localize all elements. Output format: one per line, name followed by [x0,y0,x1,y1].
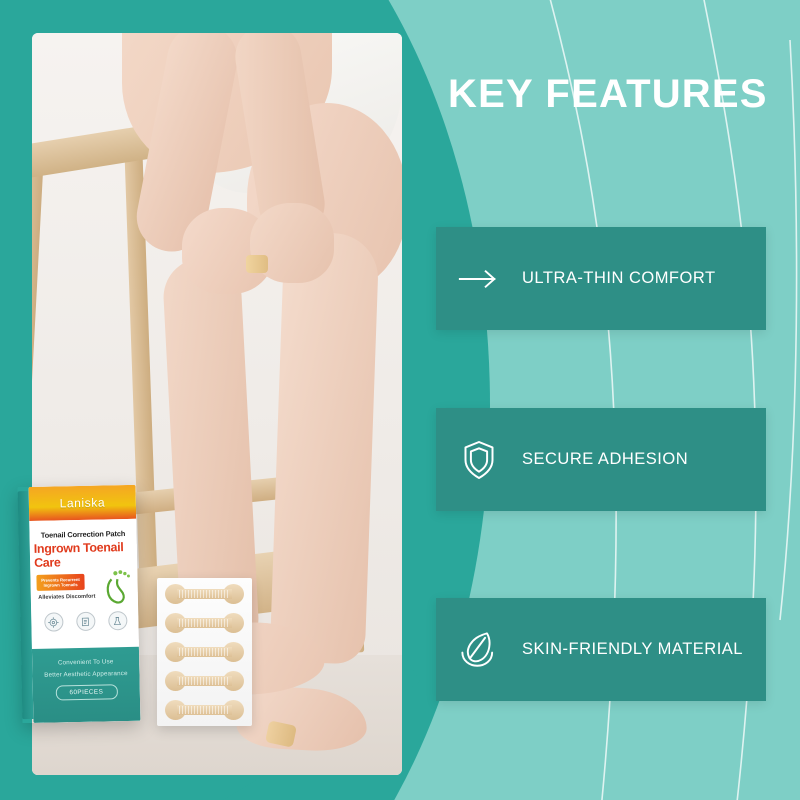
box-title: Ingrown Toenail Care [34,541,134,570]
box-benefit-2: Better Aesthetic Appearance [32,670,139,679]
product-box: Laniska Toenail Correction Patch Ingrown… [18,485,141,723]
box-alleviates-text: Alleviates Discomfort [36,594,98,601]
patch-strip [165,642,244,662]
infographic-canvas: Laniska Toenail Correction Patch Ingrown… [0,0,800,800]
patch-strip-sheet [157,578,252,726]
patch-strip [165,584,244,604]
brand-name: Laniska [59,495,105,510]
box-front-face: Laniska Toenail Correction Patch Ingrown… [29,485,141,723]
feature-card-ultra-thin-comfort[interactable]: ULTRA-THIN COMFORT [436,227,766,330]
patch-in-hand [246,255,268,273]
arrow-right-icon [436,267,522,291]
shield-icon [436,439,522,481]
box-footer: Convenient To Use Better Aesthetic Appea… [32,647,141,723]
title-block: KEY FEATURES [0,0,800,160]
box-brand-band: Laniska [29,485,137,521]
box-quantity-badge: 60PIECES [55,684,117,700]
box-certification-icons [37,611,133,632]
flask-icon [108,611,127,630]
box-body: Toenail Correction Patch Ingrown Toenail… [29,519,139,649]
footprint-logo-icon [101,567,134,608]
patch-strip [165,613,244,633]
feature-label: SKIN-FRIENDLY MATERIAL [522,640,743,659]
patch-strip [165,671,244,691]
feature-card-skin-friendly-material[interactable]: SKIN-FRIENDLY MATERIAL [436,598,766,701]
title-underline [448,116,752,127]
box-benefit-1: Convenient To Use [32,658,139,667]
feature-card-secure-adhesion[interactable]: SECURE ADHESION [436,408,766,511]
page-title: KEY FEATURES [448,72,768,116]
patch-strip [165,700,244,720]
target-icon [44,612,63,631]
claim-line-2: Ingrown Toenails [43,582,77,588]
feature-label: ULTRA-THIN COMFORT [522,269,716,288]
feature-label: SECURE ADHESION [522,450,688,469]
box-claim-badge: Prevents Recurrent Ingrown Toenails [36,574,84,591]
box-subtitle: Toenail Correction Patch [34,529,131,540]
document-icon [76,612,95,631]
leaf-icon [436,630,522,670]
right-leg [270,231,380,664]
